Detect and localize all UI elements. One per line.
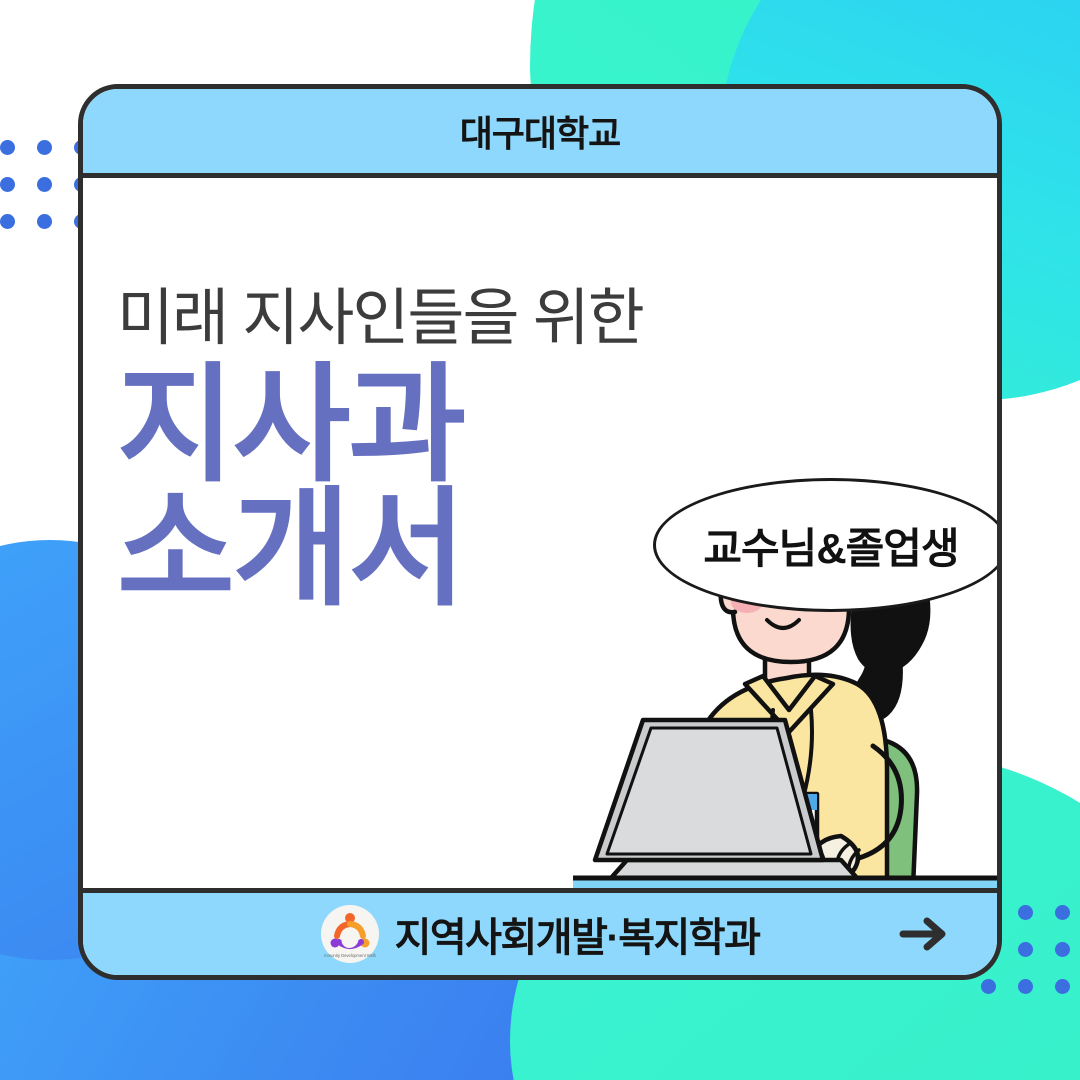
- dot: [37, 140, 52, 155]
- speakers-badge-label: 교수님&졸업생: [703, 515, 958, 576]
- dot: [1018, 905, 1033, 920]
- dot: [0, 214, 15, 229]
- card-footer-bar: Community Development Welfare 지역사회개발·복지학…: [83, 888, 997, 975]
- speakers-badge: 교수님&졸업생: [653, 478, 997, 612]
- card-body: 미래 지사인들을 위한 지사과 소개서 교수님&졸업생: [83, 178, 997, 888]
- headline-block: 미래 지사인들을 위한 지사과 소개서: [117, 288, 643, 612]
- footer-content: Community Development Welfare 지역사회개발·복지학…: [83, 905, 997, 963]
- headline-title-line-1: 지사과: [117, 364, 643, 488]
- svg-text:Community Development Welfare: Community Development Welfare: [324, 953, 376, 958]
- university-name: 대구대학교: [460, 105, 621, 157]
- dot: [1055, 979, 1070, 994]
- department-name: 지역사회개발·복지학과: [395, 905, 760, 963]
- poster-card: 대구대학교 미래 지사인들을 위한 지사과 소개서 교수님&졸업생: [78, 84, 1002, 980]
- headline-title: 지사과 소개서: [117, 364, 643, 612]
- dot: [0, 177, 15, 192]
- headline-subtitle: 미래 지사인들을 위한: [117, 288, 643, 350]
- card-header-bar: 대구대학교: [83, 89, 997, 178]
- department-logo-icon: Community Development Welfare: [321, 905, 379, 963]
- dot: [37, 177, 52, 192]
- dot: [1018, 979, 1033, 994]
- dot: [1055, 942, 1070, 957]
- headline-title-line-2: 소개서: [117, 488, 643, 612]
- dot: [0, 140, 15, 155]
- blue-dot-grid-left: [0, 140, 89, 229]
- poster-canvas: 대구대학교 미래 지사인들을 위한 지사과 소개서 교수님&졸업생: [0, 0, 1080, 1080]
- dot: [1055, 905, 1070, 920]
- dot: [981, 979, 996, 994]
- arrow-right-icon[interactable]: [897, 914, 951, 954]
- dot: [37, 214, 52, 229]
- dot: [1018, 942, 1033, 957]
